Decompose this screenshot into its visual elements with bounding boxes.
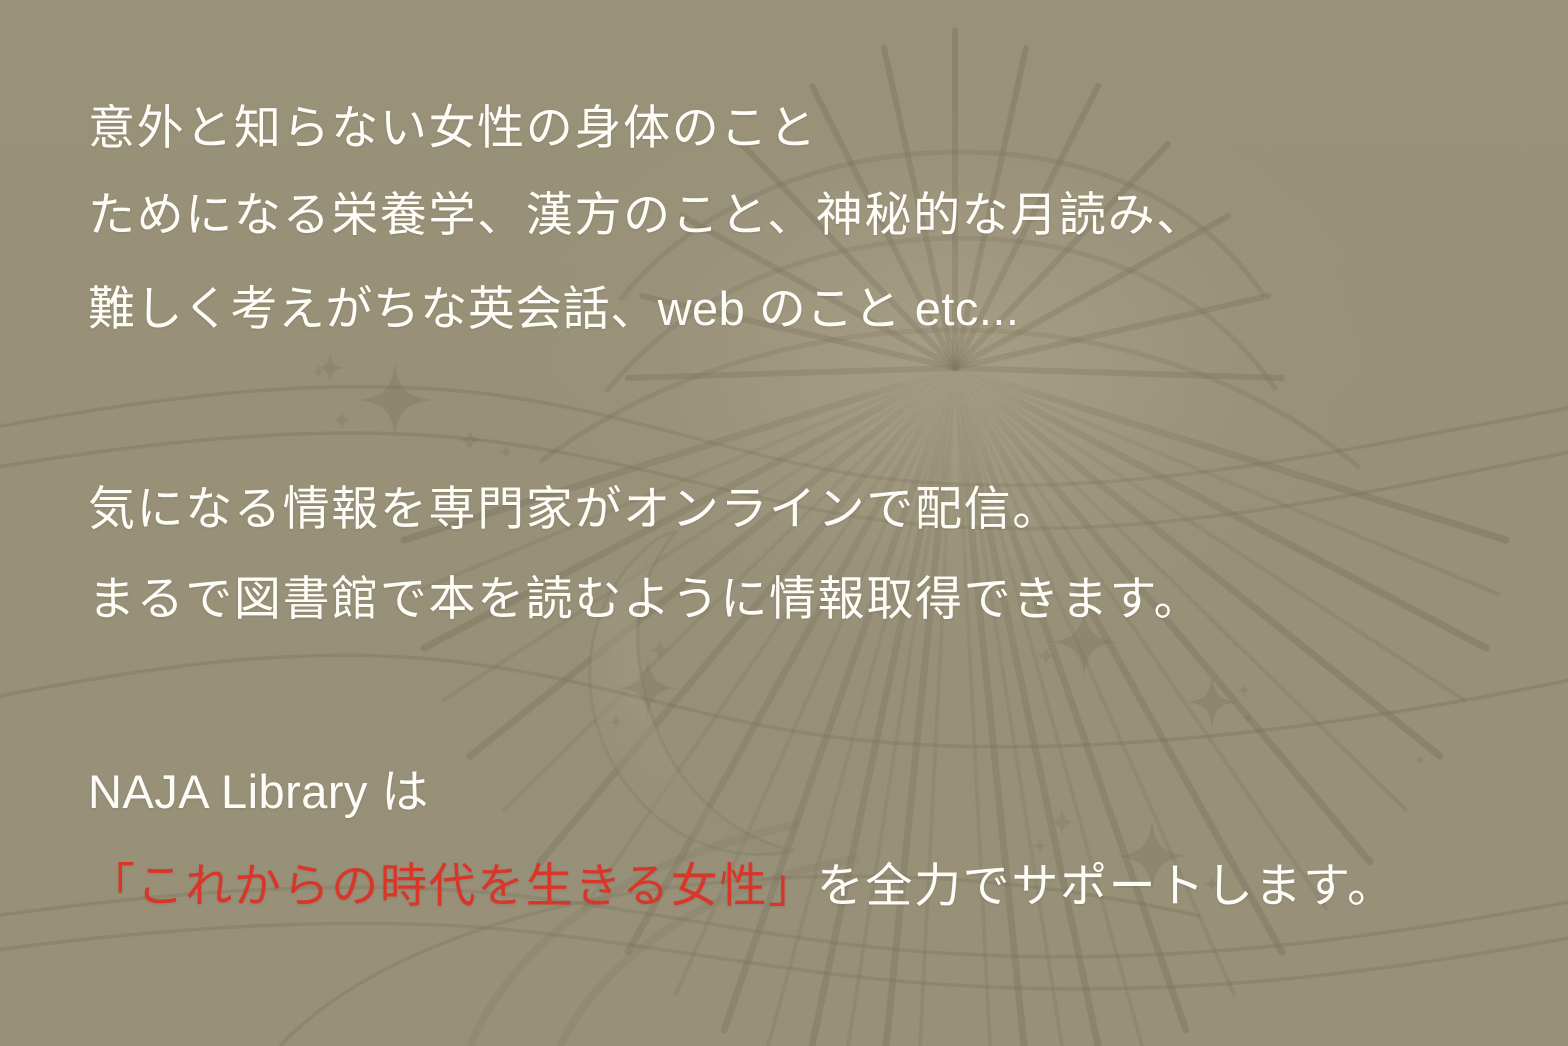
copy-block: 意外と知らない女性の身体のこと ためになる栄養学、漢方のこと、神秘的な月読み、 … — [88, 0, 1548, 1046]
body-line-1: 気になる情報を専門家がオンラインで配信。 — [88, 485, 1061, 532]
intro-line-1: 意外と知らない女性の身体のこと — [88, 104, 818, 151]
slide-canvas: 意外と知らない女性の身体のこと ためになる栄養学、漢方のこと、神秘的な月読み、 … — [0, 0, 1568, 1046]
body-line-2: まるで図書館で本を読むように情報取得できます。 — [88, 575, 1202, 622]
intro-line-3: 難しく考えがちな英会話、web のこと etc... — [88, 285, 1019, 332]
highlight-phrase: 「これからの時代を生きる女性」 — [88, 859, 817, 912]
closing-tail: を全力でサポートします。 — [817, 859, 1396, 912]
intro-line-2: ためになる栄養学、漢方のこと、神秘的な月読み、 — [88, 191, 1205, 238]
brand-line: NAJA Library は — [88, 768, 429, 815]
closing-line: 「これからの時代を生きる女性」を全力でサポートします。 — [88, 862, 1396, 909]
